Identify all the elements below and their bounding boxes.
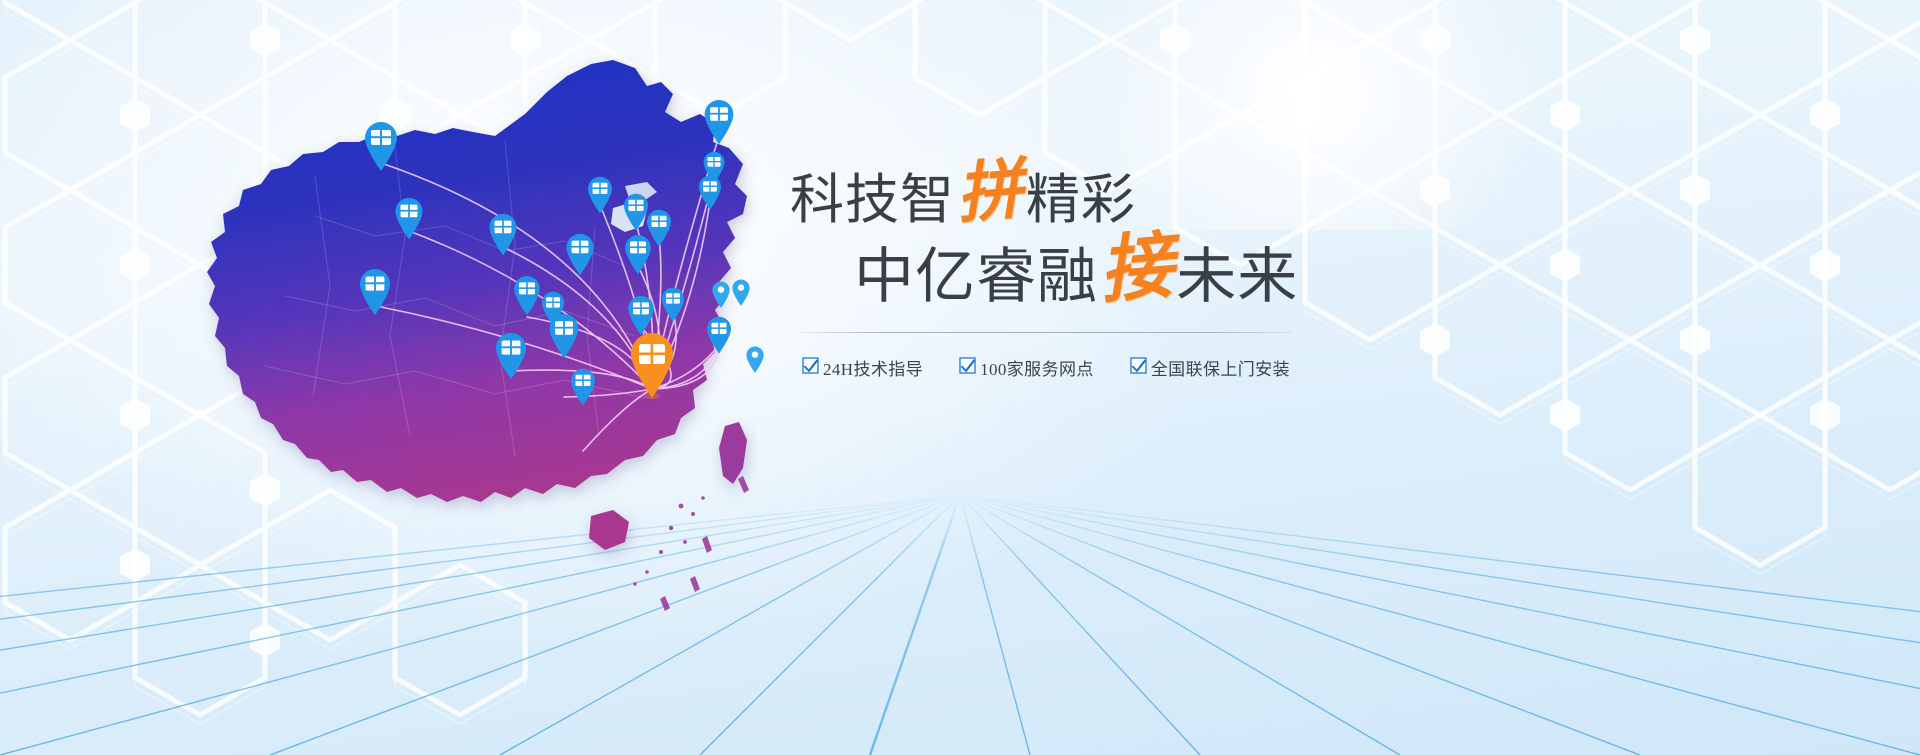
feature-label: 100家服务网点 <box>980 355 1094 380</box>
location-marker[interactable] <box>710 281 732 309</box>
headline-2-accent-char: 接 <box>1095 228 1179 309</box>
branch-pin[interactable] <box>704 316 734 355</box>
checkbox-checked-icon <box>1130 357 1147 379</box>
headline-2-part-3: 未来 <box>1176 244 1298 310</box>
branch-pin[interactable] <box>563 233 597 277</box>
branch-pin[interactable] <box>701 99 737 146</box>
feature-item: 全国联保上门安装 <box>1130 355 1290 380</box>
headline-line-1: 科技智拼精彩 <box>790 162 1310 233</box>
feature-item: 100家服务网点 <box>959 355 1094 380</box>
location-marker[interactable] <box>744 346 766 374</box>
headline-1-part-1: 科技智 <box>790 170 955 230</box>
feature-list: 24H技术指导 100家服务网点 全国联保上 <box>802 355 1310 380</box>
headline-divider <box>800 332 1292 333</box>
headline-2-part-1: 中亿睿融 <box>854 244 1098 310</box>
branch-pin[interactable] <box>625 295 657 337</box>
feature-item: 24H技术指导 <box>802 355 923 380</box>
branch-pin[interactable] <box>622 234 654 276</box>
branch-pin[interactable] <box>568 368 598 407</box>
banner-text-block: 科技智拼精彩 中亿睿融接未来 24H技术指导 <box>790 162 1310 380</box>
branch-pin[interactable] <box>585 176 615 215</box>
branch-pin[interactable] <box>356 268 394 317</box>
headline-line-2: 中亿睿融接未来 <box>790 235 1310 314</box>
branch-pin[interactable] <box>492 332 530 381</box>
promo-banner: 科技智拼精彩 中亿睿融接未来 24H技术指导 <box>0 0 1920 755</box>
branch-pin[interactable] <box>659 287 687 323</box>
branch-pin[interactable] <box>546 313 582 360</box>
headline-1-part-3: 精彩 <box>1026 170 1136 230</box>
hq-pin[interactable] <box>625 330 679 400</box>
branch-pin[interactable] <box>486 213 520 257</box>
checkbox-checked-icon <box>959 357 976 379</box>
feature-label: 24H技术指导 <box>823 355 923 380</box>
headline-1-accent-char: 拼 <box>952 155 1028 227</box>
china-map <box>195 36 795 616</box>
feature-label: 全国联保上门安装 <box>1151 355 1290 380</box>
branch-pin[interactable] <box>361 121 401 173</box>
branch-pin[interactable] <box>696 175 724 211</box>
branch-pin[interactable] <box>392 197 426 241</box>
location-marker[interactable] <box>730 279 752 307</box>
checkbox-checked-icon <box>802 357 819 379</box>
